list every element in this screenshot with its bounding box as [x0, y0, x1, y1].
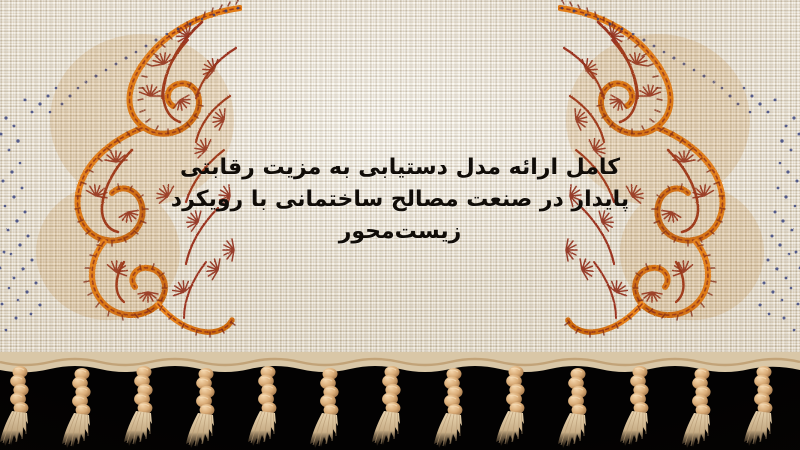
title-line-3: زیست‌محور: [0, 216, 800, 248]
title-line-2: پایدار در صنعت مصالح ساختمانی با رویکرد: [0, 184, 800, 216]
title-line-1: کامل ارائه مدل دستیابی به مزیت رقابتی: [0, 152, 800, 184]
slide-title: کامل ارائه مدل دستیابی به مزیت رقابتی پا…: [0, 152, 800, 248]
slide-canvas: کامل ارائه مدل دستیابی به مزیت رقابتی پا…: [0, 0, 800, 450]
dark-backdrop: [0, 366, 800, 450]
